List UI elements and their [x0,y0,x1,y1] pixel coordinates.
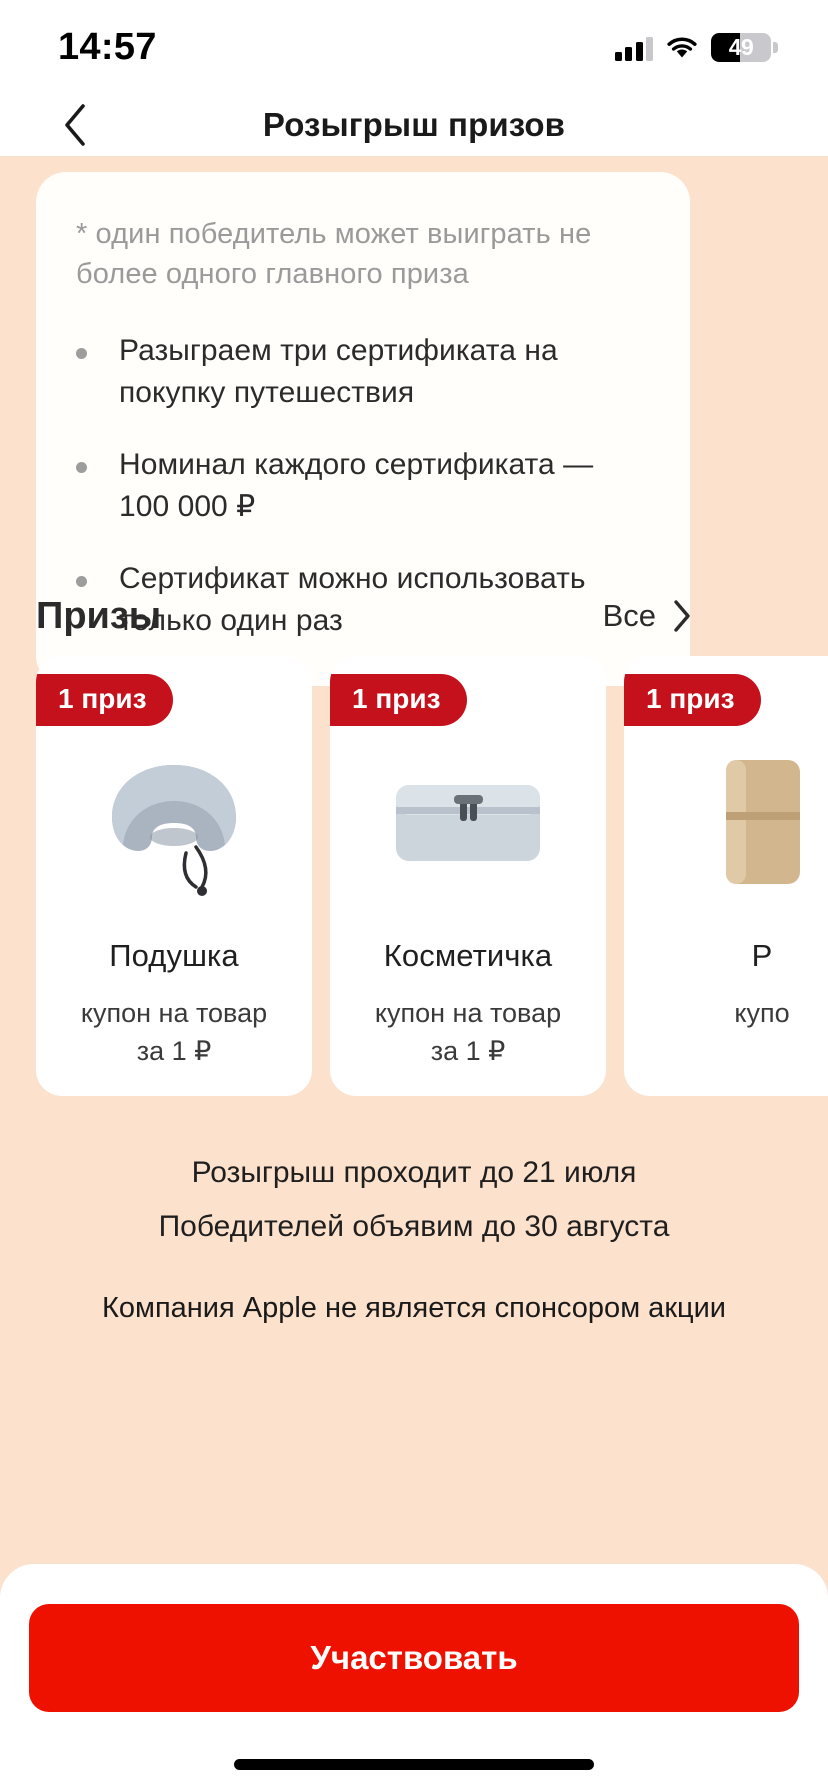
draw-dates: Розыгрыш проходит до 21 июля Победителей… [0,1146,828,1254]
prize-card[interactable]: 1 приз Р купо [624,656,828,1096]
bottom-action-bar: Участвовать [0,1564,828,1792]
home-indicator [234,1759,594,1770]
travel-pillow-image [36,714,312,928]
status-bar: 14:57 49 [0,0,828,92]
battery-percent-label: 49 [711,33,771,62]
prize-subtitle: купо [624,994,828,1032]
status-bar-time: 14:57 [58,26,228,69]
bullet-dot-icon [76,462,87,473]
prize-name: Подушка [36,938,312,974]
beige-item-image [624,714,828,928]
apple-disclaimer: Компания Apple не является спонсором акц… [0,1292,828,1325]
wifi-icon [666,36,698,60]
cellular-bars-icon [615,35,654,61]
prizes-section-header: Призы Все [36,586,692,646]
list-item: Разыграем три сертификата на покупку пут… [76,330,650,414]
winners-announce-date: Победителей объявим до 30 августа [0,1200,828,1254]
status-bar-icons: 49 [615,33,779,62]
scroll-content[interactable]: * один победитель может выиграть не боле… [0,156,828,1792]
list-item: Номинал каждого сертификата — 100 000 ₽ [76,444,650,528]
prize-name: Р [624,938,828,974]
prizes-carousel[interactable]: 1 приз Подушка купон на товар за 1 ₽ [0,656,828,1096]
prize-subtitle: купон на товар за 1 ₽ [36,994,312,1070]
status-badge: 1 приз [624,674,761,726]
draw-end-date: Розыгрыш проходит до 21 июля [0,1146,828,1200]
prize-subtitle: купон на товар за 1 ₽ [330,994,606,1070]
chevron-right-icon [672,599,692,633]
cosmetic-bag-image [330,714,606,928]
list-item-label: Номинал каждого сертификата — 100 000 ₽ [119,444,650,528]
view-all-link[interactable]: Все [603,598,692,634]
nav-bar: Розыгрыш призов [0,92,828,156]
phone-screen: 14:57 49 [0,0,828,1792]
prize-card[interactable]: 1 приз Подушка купон на товар за 1 ₽ [36,656,312,1096]
bullet-dot-icon [76,348,87,359]
page-title: Розыгрыш призов [0,106,828,144]
status-badge: 1 приз [330,674,467,726]
view-all-label: Все [603,598,656,634]
battery-icon: 49 [711,33,778,62]
prize-name: Косметичка [330,938,606,974]
rules-footnote: * один победитель может выиграть не боле… [76,214,650,294]
list-item-label: Разыграем три сертификата на покупку пут… [119,330,650,414]
status-badge: 1 приз [36,674,173,726]
prizes-heading: Призы [36,595,161,638]
participate-button[interactable]: Участвовать [29,1604,799,1712]
prize-card[interactable]: 1 приз Косметичка купон на товар за 1 ₽ [330,656,606,1096]
